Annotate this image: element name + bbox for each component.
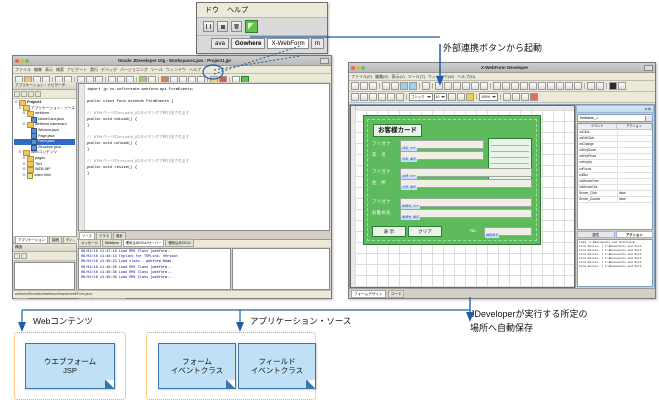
menu-run[interactable]: 実行 bbox=[90, 67, 98, 73]
fold-corner-icon bbox=[306, 380, 315, 388]
tree-node[interactable]: ⊟index.html bbox=[14, 173, 75, 179]
navigator-caption: アプリケーション・ナビゲータ bbox=[13, 82, 76, 90]
menu-help[interactable]: ヘルプ bbox=[189, 67, 201, 73]
toolbar-separator bbox=[476, 94, 477, 100]
customer-card-form[interactable]: お客様カード フリガナ 氏名_カナ 氏 名 氏名_漢字 bbox=[363, 115, 541, 245]
field-label: お勤め先 bbox=[372, 210, 391, 216]
form-field-row[interactable]: フリガナ 住所_カナ bbox=[372, 168, 532, 177]
xwebform-workspace: お客様カード フリガナ 氏名_カナ 氏 名 氏名_漢字 bbox=[349, 104, 655, 289]
object-select-value: frmName_J bbox=[580, 115, 598, 121]
tab-form-design[interactable]: フォームデザイン bbox=[351, 290, 386, 298]
grid-line bbox=[491, 148, 529, 152]
grid-toggle-icon[interactable] bbox=[503, 93, 511, 101]
align-right-icon[interactable] bbox=[511, 82, 519, 90]
structure-tree[interactable] bbox=[14, 262, 75, 290]
flow-box-line1: フォーム bbox=[182, 357, 212, 366]
field-tag: 住所_カナ bbox=[401, 175, 417, 179]
field-tag: 勤務先_カナ bbox=[401, 205, 420, 209]
log-tabs[interactable]: メッセージ Webform 埋め込みOC4Jサーバー 埋め込みOC4J bbox=[77, 240, 331, 247]
underline-icon[interactable] bbox=[369, 93, 377, 101]
menu-edit[interactable]: 編集(E) bbox=[375, 74, 388, 80]
restore-icon[interactable] bbox=[320, 58, 329, 64]
callout-tabs[interactable]: ava Gowhere X-WebForm m bbox=[197, 36, 327, 51]
chevron-down-icon[interactable] bbox=[427, 96, 431, 98]
project-tree[interactable]: ⊟Project1⊟アプリケーション・ソース⊟webformNameCard.j… bbox=[13, 99, 76, 236]
font-size-select[interactable]: 10 bbox=[434, 93, 448, 101]
form-field-row[interactable]: 住 所 住所_漢字 bbox=[372, 179, 532, 188]
menu-help[interactable]: ヘルプ(H) bbox=[457, 74, 475, 80]
event-action-value[interactable] bbox=[618, 173, 652, 178]
event-name: onChange bbox=[578, 142, 618, 147]
menu-view[interactable]: 表示 bbox=[45, 67, 53, 73]
event-action-table[interactable]: イベント アクション onClickonDblClickonChangeonKe… bbox=[577, 123, 653, 230]
form-field-row[interactable]: お勤め先 勤務先_漢字 bbox=[372, 209, 532, 218]
flow-box-line2: イベントクラス bbox=[171, 366, 223, 375]
structure-caption: 構造 bbox=[13, 244, 76, 252]
field-input[interactable]: 住所_漢字 bbox=[400, 179, 532, 188]
editor-area: import jp.co.softcreate.webform.api.Form… bbox=[77, 82, 331, 298]
rect-tool-icon[interactable] bbox=[462, 82, 470, 90]
text-tool-icon[interactable] bbox=[444, 82, 452, 90]
flow-box-line2: JSP bbox=[63, 366, 77, 375]
zoom-select[interactable]: 100% bbox=[479, 93, 498, 101]
button-tool-icon[interactable] bbox=[471, 82, 479, 90]
field-label: フリガナ bbox=[372, 169, 391, 175]
field-tag: 勤務先_漢字 bbox=[401, 216, 420, 220]
jdeveloper-title: Oracle JDeveloper 10g - Workspace1.jws :… bbox=[29, 58, 320, 63]
window-controls[interactable] bbox=[351, 66, 365, 70]
fill-color-icon[interactable] bbox=[609, 82, 617, 90]
font-size-value: 10 bbox=[436, 94, 440, 100]
menu-edit[interactable]: 編集 bbox=[34, 67, 42, 73]
zoom-value: 100% bbox=[481, 94, 490, 100]
event-name: onClick bbox=[578, 130, 618, 135]
italic-icon[interactable] bbox=[360, 93, 368, 101]
label-tool-icon[interactable] bbox=[435, 82, 443, 90]
jdeveloper-titlebar: Oracle JDeveloper 10g - Workspace1.jws :… bbox=[13, 56, 331, 66]
font-family-value: ゴシック bbox=[411, 94, 425, 100]
event-name: Server_Click bbox=[578, 191, 618, 196]
source-editor[interactable]: import jp.co.softcreate.webform.api.Form… bbox=[78, 83, 330, 231]
form-field-row[interactable]: フリガナ 氏名_カナ bbox=[372, 140, 484, 149]
save-icon[interactable] bbox=[369, 82, 377, 90]
status-path: webform¥form¥src¥webform¥namecard¥Form.j… bbox=[15, 292, 92, 296]
chevron-down-icon[interactable] bbox=[645, 116, 652, 121]
annotation-autosave-line2: 場所へ自動保存 bbox=[470, 322, 533, 334]
window-controls[interactable] bbox=[15, 59, 29, 63]
arrow-head-down bbox=[236, 322, 244, 332]
table-rows[interactable]: onClickonDblClickonChangeonKeyDownonKeyP… bbox=[578, 130, 652, 203]
ungroup-icon[interactable] bbox=[574, 82, 582, 90]
tab-code[interactable]: コード bbox=[388, 290, 405, 298]
menu-navigate[interactable]: ナビゲート bbox=[67, 67, 87, 73]
callout-menu-help[interactable]: ヘルプ bbox=[227, 5, 248, 15]
event-action-value[interactable] bbox=[618, 154, 652, 159]
properties-caption: ⧉ ⊠ bbox=[576, 105, 654, 113]
column-action: アクション bbox=[617, 124, 652, 129]
xwebform-statusbar[interactable]: フォームデザイン コード bbox=[349, 288, 655, 298]
event-action-value[interactable] bbox=[618, 179, 652, 184]
editor-bottom-tabs[interactable]: ソース クラス 設計 bbox=[77, 232, 331, 239]
toolbar-separator bbox=[379, 83, 380, 89]
flow-box-form-event-class[interactable]: フォーム イベントクラス bbox=[158, 343, 236, 389]
properties-panel: ⧉ ⊠ frmName_J イベント アクション onClickonDblCli… bbox=[576, 105, 654, 288]
new-icon[interactable] bbox=[351, 82, 359, 90]
refresh-icon[interactable] bbox=[14, 91, 20, 97]
grid-line bbox=[491, 142, 529, 146]
event-action-value[interactable] bbox=[618, 148, 652, 153]
border-color-icon[interactable] bbox=[618, 82, 626, 90]
structure-toolbar[interactable] bbox=[13, 252, 76, 261]
toolbar-separator bbox=[419, 83, 420, 89]
green-launch-icon[interactable] bbox=[245, 20, 258, 33]
snap-icon[interactable] bbox=[512, 93, 520, 101]
flow-box-line2: イベントクラス bbox=[251, 366, 303, 375]
align-top-icon[interactable] bbox=[520, 82, 528, 90]
grid-line bbox=[491, 154, 529, 158]
back-icon[interactable] bbox=[21, 91, 27, 97]
event-action-value[interactable]: false bbox=[618, 191, 652, 196]
ruler-icon[interactable] bbox=[521, 93, 529, 101]
toolbar-separator bbox=[584, 83, 585, 89]
annotation-autosave-line1: JDeveloperが実行する所定の bbox=[470, 308, 588, 320]
field-input[interactable]: 勤務先_カナ bbox=[400, 198, 532, 207]
log-line: 06/02/16 11:46:39 Load RMI Class [webfor… bbox=[81, 276, 228, 281]
toolbar-separator bbox=[432, 83, 433, 89]
event-action-value[interactable] bbox=[618, 142, 652, 147]
clear-button[interactable]: クリア bbox=[408, 226, 442, 237]
checkbox-tool-icon[interactable] bbox=[480, 82, 488, 90]
paste-icon[interactable] bbox=[400, 82, 408, 90]
tab-oc4j-server[interactable]: 埋め込みOC4Jサーバー bbox=[123, 239, 165, 247]
event-name: onKeyPress bbox=[578, 154, 618, 159]
form-field-row[interactable]: フリガナ 勤務先_カナ bbox=[372, 198, 532, 207]
link-icon[interactable] bbox=[587, 82, 595, 90]
flow-box-field-event-class[interactable]: フィールド イベントクラス bbox=[238, 343, 316, 389]
tree-node-label: index.html bbox=[34, 173, 51, 179]
callout-tab-gowhere[interactable]: Gowhere bbox=[231, 38, 265, 49]
minimize-icon[interactable] bbox=[356, 66, 360, 70]
tree-expander[interactable]: ⊟ bbox=[22, 122, 26, 128]
highlight-icon[interactable] bbox=[396, 93, 404, 101]
menu-tools[interactable]: ツール(T) bbox=[408, 74, 425, 80]
xwebform-log[interactable]: Load: C:¥Documents and Settings¥…Form Re… bbox=[577, 239, 653, 287]
navigator-panel: アプリケーション・ナビゲータ ⊟Project1⊟アプリケーション・ソース⊟we… bbox=[13, 82, 77, 298]
log-line: Form Resize: [ C:¥Documents and Sett… bbox=[579, 265, 651, 269]
event-name: onMouseOver bbox=[578, 179, 618, 184]
java-source-code[interactable]: import jp.co.softcreate.webform.api.Form… bbox=[79, 84, 329, 177]
xwebform-toolbar-row1[interactable] bbox=[349, 81, 655, 92]
callout-tab-xwebform[interactable]: X-WebForm bbox=[267, 38, 308, 49]
preview-icon[interactable] bbox=[596, 82, 604, 90]
label-app-source: アプリケーション・ソース bbox=[250, 315, 351, 327]
field-input[interactable]: 住所_カナ bbox=[400, 168, 532, 177]
callout-tab-more[interactable]: m bbox=[311, 38, 324, 49]
event-action-value[interactable] bbox=[618, 136, 652, 141]
bg-color-icon[interactable] bbox=[466, 93, 474, 101]
menu-versioning[interactable]: バージョニング bbox=[120, 67, 148, 73]
callout-tab-java[interactable]: ava bbox=[211, 38, 229, 49]
pause-icon[interactable] bbox=[203, 21, 214, 32]
align-left-icon[interactable] bbox=[493, 82, 501, 90]
restore-icon[interactable] bbox=[644, 65, 653, 71]
menu-search[interactable]: 検索 bbox=[56, 67, 64, 73]
form-field-row[interactable]: 氏 名 氏名_漢字 bbox=[372, 151, 484, 160]
callout-toolbar[interactable] bbox=[197, 18, 327, 36]
xwebform-window[interactable]: X-WebForm Developer ファイル(F) 編集(E) 表示(V) … bbox=[348, 62, 656, 299]
tab-oc4j[interactable]: 埋め込みOC4J bbox=[165, 239, 193, 247]
distribute-v-icon[interactable] bbox=[556, 82, 564, 90]
code-line: } bbox=[87, 171, 327, 177]
tree-expander[interactable]: ⊟ bbox=[22, 111, 26, 117]
tab-messages[interactable]: メッセージ bbox=[78, 239, 101, 247]
open-icon[interactable] bbox=[360, 82, 368, 90]
tree-expander[interactable]: ⊟ bbox=[22, 173, 26, 179]
menu-file[interactable]: ファイル(F) bbox=[351, 74, 372, 80]
form-title[interactable]: お客様カード bbox=[373, 124, 422, 137]
flow-box-text: フィールド イベントクラス bbox=[251, 357, 303, 375]
no-label: No. bbox=[470, 228, 477, 233]
event-action-value[interactable] bbox=[618, 130, 652, 135]
callout-menubar[interactable]: ドウ ヘルプ bbox=[197, 3, 327, 18]
callout-menu-window[interactable]: ドウ bbox=[205, 5, 219, 15]
font-family-select[interactable]: ゴシック bbox=[409, 93, 433, 101]
log-body: 06/02/16 11:47:10 Load RMI Class [webfor… bbox=[77, 247, 331, 291]
no-input[interactable]: 顧客番号 bbox=[484, 227, 532, 236]
copy-icon[interactable] bbox=[391, 82, 399, 90]
chevron-down-icon[interactable] bbox=[492, 96, 496, 98]
delete-icon[interactable] bbox=[530, 93, 538, 101]
align-bottom-icon[interactable] bbox=[538, 82, 546, 90]
cut-icon[interactable] bbox=[382, 82, 390, 90]
toolbar-separator bbox=[500, 94, 501, 100]
form-canvas[interactable]: お客様カード フリガナ 氏名_カナ 氏 名 氏名_漢字 bbox=[350, 105, 575, 288]
html-icon bbox=[27, 173, 33, 179]
field-input[interactable]: 勤務先_漢字 bbox=[400, 209, 532, 218]
event-name: onMouseOut bbox=[578, 185, 618, 190]
xwebform-menubar[interactable]: ファイル(F) 編集(E) 表示(V) ツール(T) ウィンドウ(W) ヘルプ(… bbox=[349, 73, 655, 81]
toolbar-separator bbox=[406, 94, 407, 100]
no-tag: 顧客番号 bbox=[485, 234, 499, 238]
field-label: 氏 名 bbox=[372, 152, 386, 158]
indent-icon[interactable] bbox=[448, 93, 456, 101]
event-row[interactable]: Server_Doublefalse bbox=[578, 197, 652, 203]
pointer-icon[interactable] bbox=[422, 82, 430, 90]
annotation-external-launch: 外部連携ボタンから起動 bbox=[443, 42, 542, 54]
xwebform-title: X-WebForm Developer bbox=[365, 65, 644, 70]
tab-attributes[interactable]: 属性 bbox=[577, 231, 615, 238]
tab-webform[interactable]: Webform bbox=[102, 239, 122, 247]
label-web-content: Webコンテンツ bbox=[33, 315, 93, 327]
field-label: 住 所 bbox=[372, 180, 386, 186]
sort-icon[interactable] bbox=[14, 253, 20, 259]
menu-window[interactable]: ウィンドウ(W) bbox=[428, 74, 454, 80]
filter-icon[interactable] bbox=[35, 91, 41, 97]
minimize-icon[interactable] bbox=[20, 59, 24, 63]
event-action-value[interactable] bbox=[618, 167, 652, 172]
column-event: イベント bbox=[578, 124, 617, 129]
jdeveloper-body: アプリケーション・ナビゲータ ⊟Project1⊟アプリケーション・ソース⊟we… bbox=[13, 82, 331, 298]
toolbar-separator bbox=[606, 83, 607, 89]
group-icon[interactable] bbox=[21, 253, 27, 259]
field-label: フリガナ bbox=[372, 141, 391, 147]
tab-actions[interactable]: アクション bbox=[616, 231, 654, 238]
editor-gutter bbox=[79, 84, 85, 230]
fold-corner-icon bbox=[226, 380, 235, 388]
dock-icon[interactable]: ⧉ ⊠ bbox=[645, 107, 651, 111]
close-icon[interactable] bbox=[351, 66, 355, 70]
forward-icon[interactable] bbox=[28, 91, 34, 97]
event-name: onDblClick bbox=[578, 136, 618, 141]
xwebform-toolbar-row2[interactable]: ゴシック 10 100% bbox=[349, 92, 655, 103]
menu-window[interactable]: ウィンドウ bbox=[166, 67, 186, 73]
menu-tools[interactable]: ツール bbox=[151, 67, 163, 73]
field-tag: 氏名_漢字 bbox=[401, 158, 417, 162]
flow-box-line1: ウエブフォーム bbox=[44, 357, 96, 366]
jdeveloper-window[interactable]: Oracle JDeveloper 10g - Workspace1.jws :… bbox=[12, 55, 332, 299]
menu-debug[interactable]: デバッグ bbox=[101, 67, 117, 73]
group-icon[interactable] bbox=[565, 82, 573, 90]
event-action-value[interactable] bbox=[618, 185, 652, 190]
event-name: onKeyDown bbox=[578, 148, 618, 153]
color-icon[interactable] bbox=[387, 93, 395, 101]
fold-corner-icon bbox=[105, 380, 114, 388]
grid-line bbox=[491, 160, 529, 164]
flow-box-text: ウエブフォーム JSP bbox=[44, 357, 96, 375]
xwebform-titlebar: X-WebForm Developer bbox=[349, 63, 655, 73]
properties-tabs[interactable]: 属性 アクション bbox=[577, 231, 653, 238]
menu-file[interactable]: ファイル bbox=[15, 67, 31, 73]
field-tag: 氏名_カナ bbox=[401, 147, 417, 151]
display-button[interactable]: 表 示 bbox=[372, 226, 406, 237]
line-tool-icon[interactable] bbox=[453, 82, 461, 90]
event-name: onBlur bbox=[578, 173, 618, 178]
toolbar-zoom-callout: ドウ ヘルプ ava Gowhere X-WebForm m bbox=[196, 2, 328, 54]
toolbar-separator bbox=[490, 83, 491, 89]
flow-box-line1: フィールド bbox=[258, 357, 295, 366]
field-tag: 住所_漢字 bbox=[401, 186, 417, 190]
log-output[interactable]: 06/02/16 11:47:10 Load RMI Class [webfor… bbox=[78, 248, 231, 290]
close-icon[interactable] bbox=[15, 59, 19, 63]
navigator-tabs[interactable]: アプリケーション 接続 ディ... bbox=[13, 236, 76, 243]
distribute-h-icon[interactable] bbox=[547, 82, 555, 90]
strike-icon[interactable] bbox=[378, 93, 386, 101]
menu-view[interactable]: 表示(V) bbox=[391, 74, 404, 80]
navigator-toolbar[interactable] bbox=[13, 90, 76, 99]
outdent-icon[interactable] bbox=[457, 93, 465, 101]
jdeveloper-statusbar: webform¥form¥src¥webform¥namecard¥Form.j… bbox=[13, 290, 331, 298]
bold-icon[interactable] bbox=[351, 93, 359, 101]
chevron-down-icon[interactable] bbox=[441, 96, 445, 98]
event-action-value[interactable]: false bbox=[618, 197, 652, 202]
event-name: onFocus bbox=[578, 167, 618, 172]
align-center-icon[interactable] bbox=[502, 82, 510, 90]
event-action-value[interactable] bbox=[618, 160, 652, 165]
align-middle-icon[interactable] bbox=[529, 82, 537, 90]
flow-box-text: フォーム イベントクラス bbox=[171, 357, 223, 375]
log-detail-pane[interactable] bbox=[232, 248, 330, 290]
jdeveloper-menubar[interactable]: ファイル 編集 表示 検索 ナビゲート 実行 デバッグ バージョニング ツール … bbox=[13, 66, 331, 74]
object-select[interactable]: frmName_J bbox=[577, 114, 653, 122]
flow-box-web-form-jsp[interactable]: ウエブフォーム JSP bbox=[25, 343, 115, 389]
stop-icon[interactable] bbox=[217, 21, 228, 32]
field-input[interactable]: 氏名_漢字 bbox=[400, 151, 484, 160]
event-name: onKeyUp bbox=[578, 160, 618, 165]
field-label: フリガナ bbox=[372, 199, 391, 205]
event-name: Server_Double bbox=[578, 197, 618, 202]
arrow-head-down bbox=[18, 322, 26, 332]
undo-icon[interactable] bbox=[409, 82, 417, 90]
field-input[interactable]: 氏名_カナ bbox=[400, 140, 484, 149]
trash-icon[interactable] bbox=[231, 21, 242, 32]
